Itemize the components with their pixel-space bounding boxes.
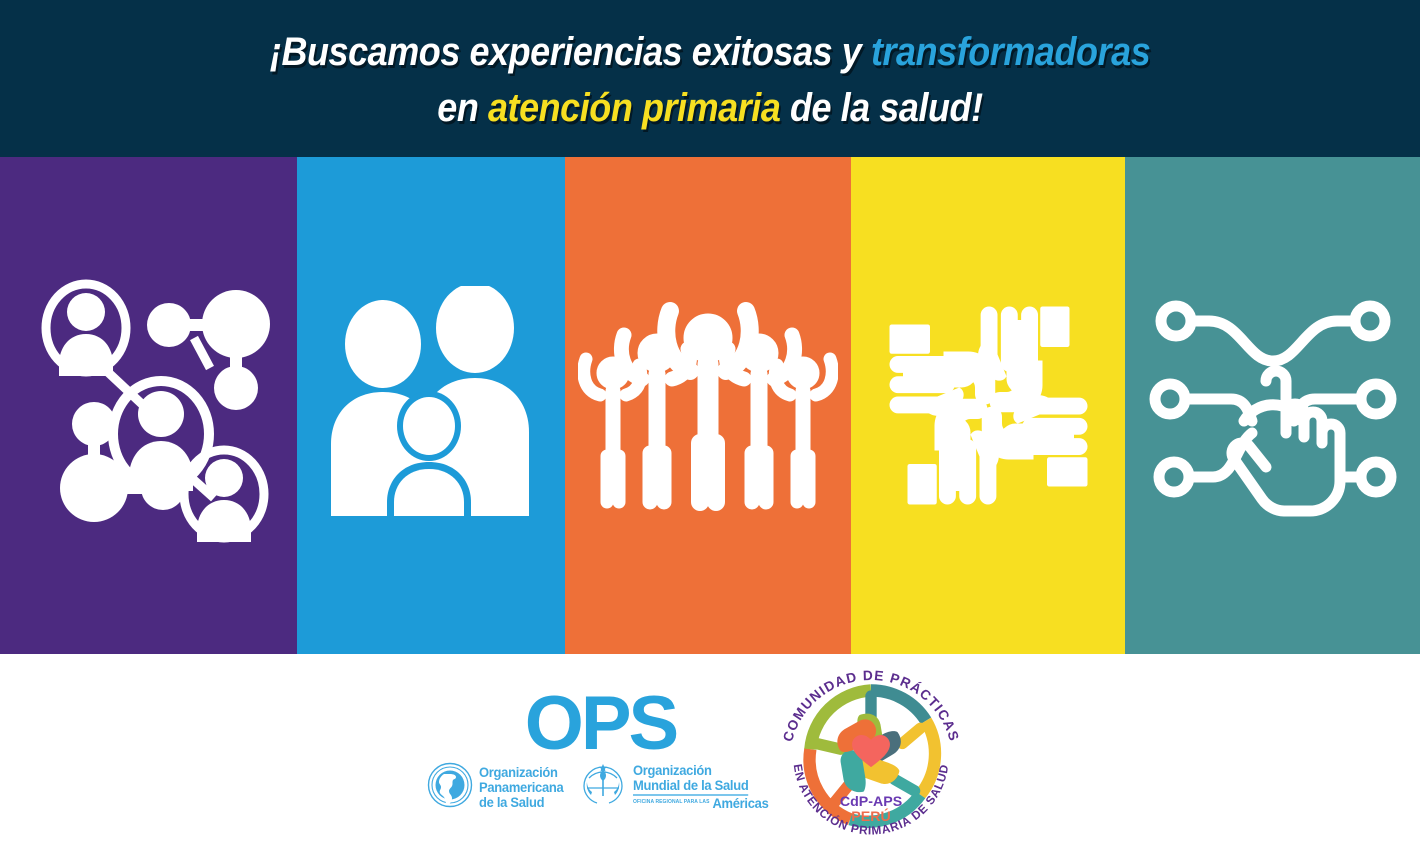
- cdp-aps-peru-logo: CdP-APS PERÚ COMUNIDAD DE PRÁCTICAS EN A…: [776, 662, 966, 842]
- people-network-icon: [24, 266, 274, 546]
- ops-acronym: OPS: [525, 691, 677, 756]
- headline-line1-highlight: transformadoras: [871, 30, 1150, 74]
- four-hands-teamwork-icon: [876, 293, 1101, 518]
- headline-line-2: en atención primaria de la salud!: [437, 81, 982, 136]
- headline-line2-highlight: atención primaria: [488, 86, 780, 130]
- banner-header: ¡Buscamos experiencias exitosas y transf…: [0, 0, 1420, 157]
- headline-line1-white: ¡Buscamos experiencias exitosas y: [270, 30, 871, 74]
- headline-line-1: ¡Buscamos experiencias exitosas y transf…: [270, 25, 1150, 80]
- who-name: Organización Mundial de la Salud OFICINA…: [633, 763, 768, 811]
- banner-footer: OPS Organización Panameric: [0, 654, 1420, 850]
- who-region-americas: Américas: [712, 796, 768, 811]
- paho-name-line2: Panamericana: [479, 780, 563, 795]
- paho-name-line3: de la Salud: [479, 795, 563, 810]
- paho-ops-logo: OPS Organización Panameric: [455, 691, 747, 813]
- panel-digital: [1125, 157, 1420, 654]
- family-icon: [321, 286, 541, 526]
- digital-touch-network-icon: [1148, 281, 1398, 531]
- who-regional-note: OFICINA REGIONAL PARA LAS: [633, 800, 710, 806]
- paho-name: Organización Panamericana de la Salud: [479, 765, 563, 810]
- paho-name-line1: Organización: [479, 765, 563, 780]
- paho-seal-icon: [427, 762, 473, 813]
- headline-line2-white-b: de la salud!: [780, 86, 982, 130]
- panel-teamwork: [851, 157, 1125, 654]
- who-name-line1: Organización: [633, 763, 768, 778]
- cdp-aps-peru-seal-icon: CdP-APS PERÚ COMUNIDAD DE PRÁCTICAS EN A…: [776, 829, 966, 846]
- paho-lockup: Organización Panamericana de la Salud: [427, 762, 567, 813]
- panel-people-network: [0, 157, 297, 654]
- icon-panel-strip: [0, 157, 1420, 654]
- panel-community: [565, 157, 851, 654]
- cdp-center-line1: CdP-APS: [839, 794, 901, 810]
- headline-line2-white-a: en: [437, 86, 488, 130]
- who-seal-icon: [579, 762, 627, 811]
- who-name-line2: Mundial de la Salud: [633, 778, 749, 796]
- panel-family: [297, 157, 565, 654]
- campaign-banner: ¡Buscamos experiencias exitosas y transf…: [0, 0, 1420, 850]
- people-celebrating-icon: [578, 291, 838, 521]
- who-lockup: Organización Mundial de la Salud OFICINA…: [579, 762, 774, 811]
